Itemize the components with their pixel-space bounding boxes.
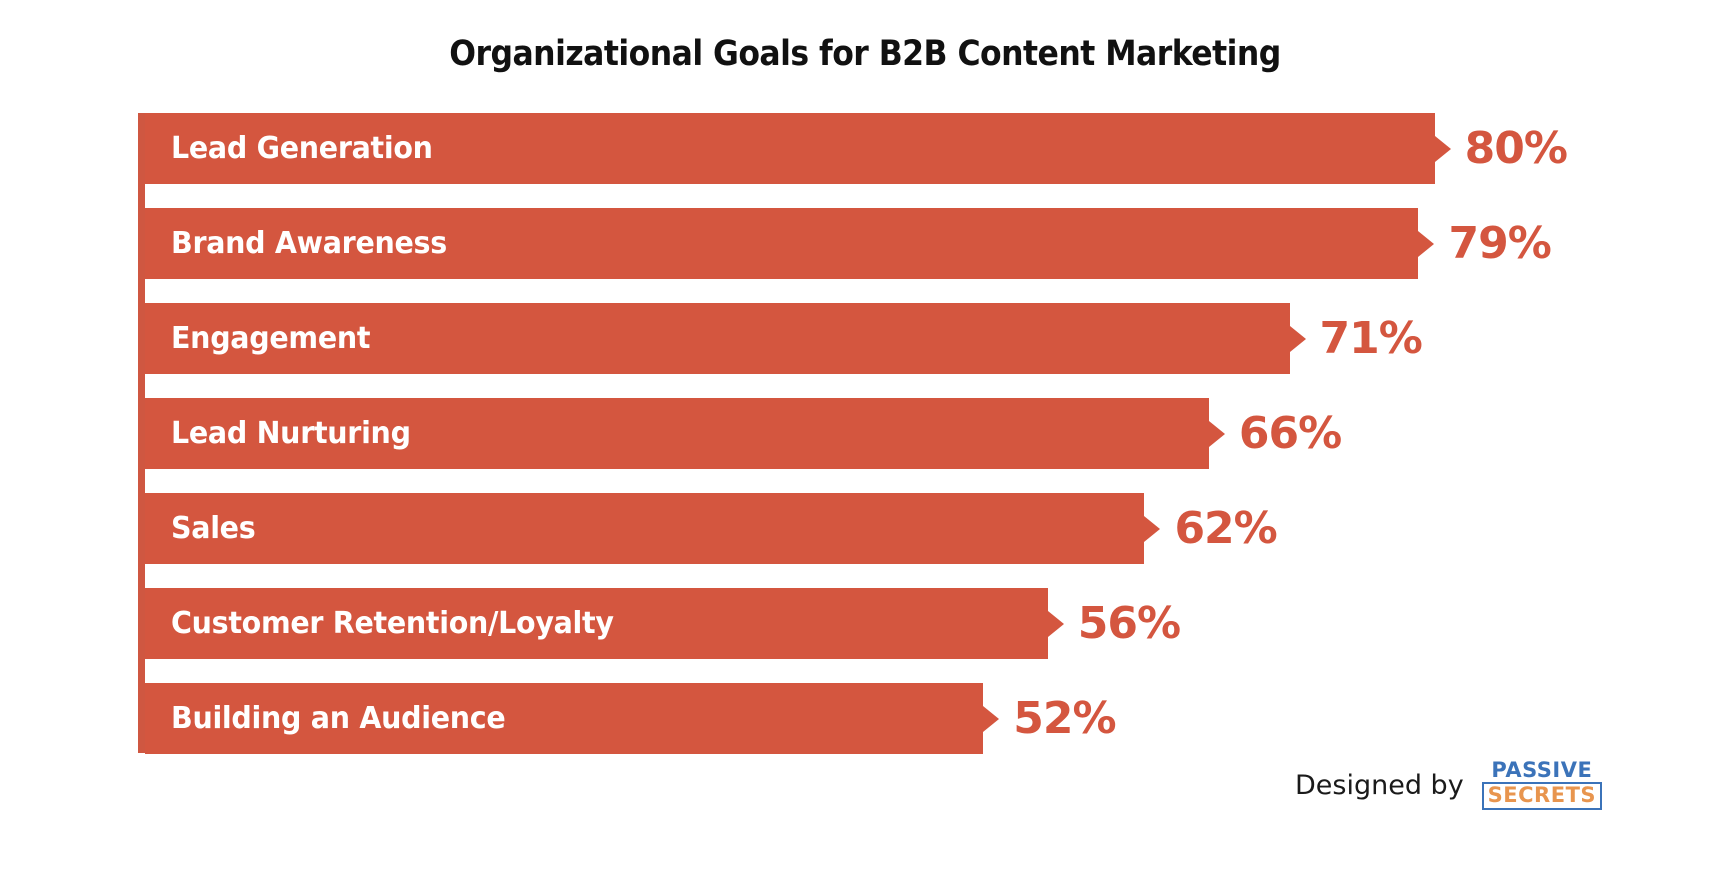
bar[interactable]: Engagement [145, 303, 1290, 374]
bar-arrow-icon [1209, 421, 1225, 447]
bar-row: Lead Nurturing66% [145, 398, 1698, 469]
bar-arrow-icon [983, 706, 999, 732]
designed-by-label: Designed by [1295, 772, 1464, 799]
bar-value-label: 66% [1239, 412, 1341, 456]
bar-value-label: 52% [1013, 697, 1115, 741]
bar[interactable]: Building an Audience [145, 683, 983, 754]
bar-arrow-icon [1435, 136, 1451, 162]
bar-value-label: 79% [1448, 222, 1550, 266]
bar[interactable]: Brand Awareness [145, 208, 1418, 279]
bar-row: Brand Awareness79% [145, 208, 1698, 279]
bar-arrow-icon [1418, 231, 1434, 257]
bar-row: Engagement71% [145, 303, 1698, 374]
chart-container: Organizational Goals for B2B Content Mar… [0, 0, 1730, 892]
bar-value-label: 62% [1174, 507, 1276, 551]
bar-row: Building an Audience52% [145, 683, 1698, 754]
bar[interactable]: Customer Retention/Loyalty [145, 588, 1048, 659]
bar[interactable]: Lead Nurturing [145, 398, 1209, 469]
logo-top-text: PASSIVE [1482, 760, 1602, 782]
bar-category-label: Lead Nurturing [171, 419, 411, 449]
passive-secrets-logo: PASSIVE SECRETS [1482, 760, 1602, 810]
bar-row: Sales62% [145, 493, 1698, 564]
bar-series: Lead Generation80%Brand Awareness79%Enga… [145, 113, 1698, 753]
bar-row: Lead Generation80% [145, 113, 1698, 184]
bar-category-label: Lead Generation [171, 134, 433, 164]
bar-row: Customer Retention/Loyalty56% [145, 588, 1698, 659]
bar-category-label: Sales [171, 514, 255, 544]
bar-value-label: 80% [1465, 127, 1567, 171]
logo-bottom-text: SECRETS [1482, 782, 1602, 810]
bar-value-label: 56% [1078, 602, 1180, 646]
bar-arrow-icon [1144, 516, 1160, 542]
bar-category-label: Customer Retention/Loyalty [171, 609, 614, 639]
bar-category-label: Brand Awareness [171, 229, 447, 259]
bar-category-label: Engagement [171, 324, 370, 354]
bar-arrow-icon [1048, 611, 1064, 637]
credit-block: Designed by PASSIVE SECRETS [1295, 760, 1602, 810]
bar-category-label: Building an Audience [171, 704, 505, 734]
chart-title: Organizational Goals for B2B Content Mar… [87, 34, 1644, 74]
bar[interactable]: Lead Generation [145, 113, 1435, 184]
bar[interactable]: Sales [145, 493, 1144, 564]
plot-area: Lead Generation80%Brand Awareness79%Enga… [138, 113, 1698, 753]
y-axis-line [138, 113, 145, 753]
bar-arrow-icon [1290, 326, 1306, 352]
bar-value-label: 71% [1320, 317, 1422, 361]
